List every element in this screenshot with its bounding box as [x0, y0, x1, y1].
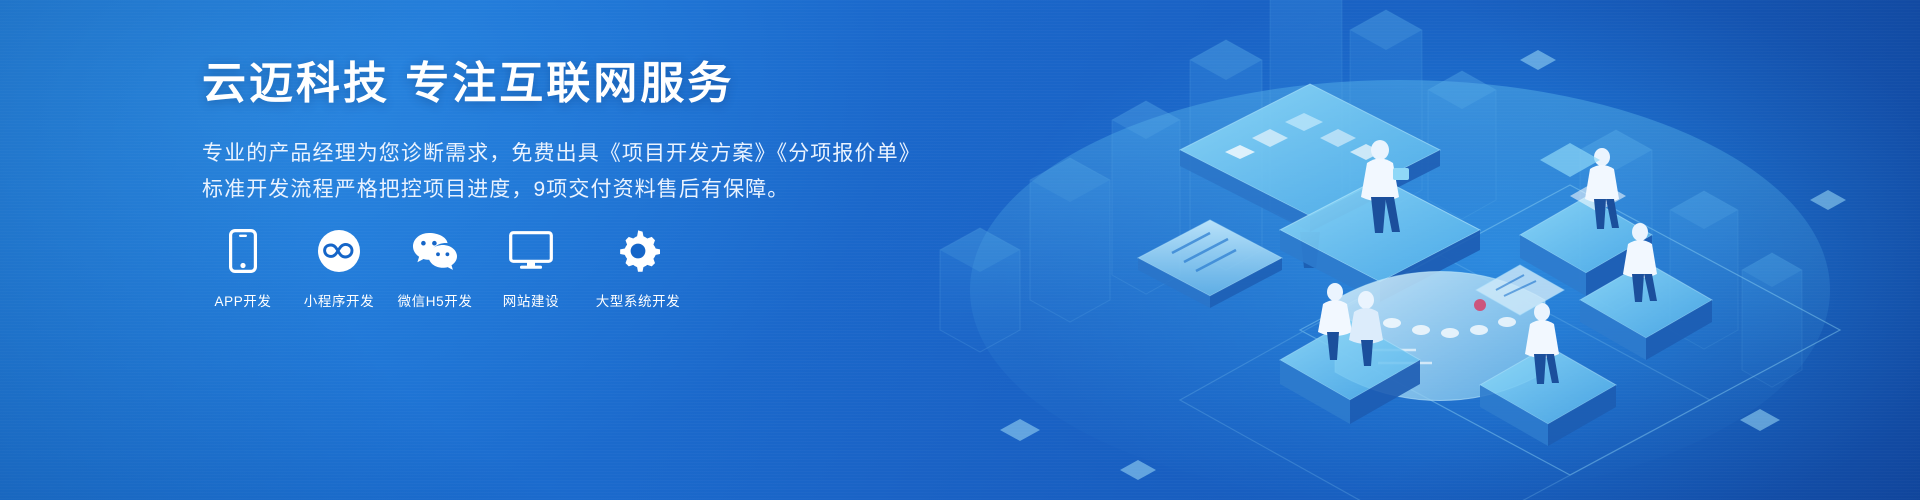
service-label: 微信H5开发: [398, 290, 473, 310]
service-item-wechat-h5[interactable]: 微信H5开发: [398, 228, 472, 310]
monitor-icon: [509, 228, 553, 274]
gear-icon: [616, 228, 660, 274]
service-item-mini-program[interactable]: 小程序开发: [302, 228, 376, 310]
service-label: APP开发: [214, 290, 271, 310]
service-label: 小程序开发: [304, 290, 375, 310]
page-title: 云迈科技 专注互联网服务: [202, 58, 922, 110]
mini-program-icon: [317, 228, 361, 274]
service-item-large-system[interactable]: 大型系统开发: [590, 228, 686, 310]
service-list: APP开发 小程序开发 微信: [206, 228, 686, 310]
mobile-phone-icon: [229, 228, 257, 274]
hero-banner: 云迈科技 专注互联网服务 专业的产品经理为您诊断需求，免费出具《项目开发方案》《…: [0, 0, 1920, 500]
service-item-app[interactable]: APP开发: [206, 228, 280, 310]
service-label: 网站建设: [503, 290, 559, 310]
hero-copy: 云迈科技 专注互联网服务 专业的产品经理为您诊断需求，免费出具《项目开发方案》《…: [202, 58, 922, 208]
wechat-icon: [411, 228, 459, 274]
illustration-isometric-data-platform: [880, 0, 1920, 500]
subtitle-line-1: 专业的产品经理为您诊断需求，免费出具《项目开发方案》《分项报价单》: [202, 136, 922, 172]
subtitle-line-2: 标准开发流程严格把控项目进度，9项交付资料售后有保障。: [202, 172, 922, 208]
service-item-website[interactable]: 网站建设: [494, 228, 568, 310]
service-label: 大型系统开发: [596, 290, 681, 310]
